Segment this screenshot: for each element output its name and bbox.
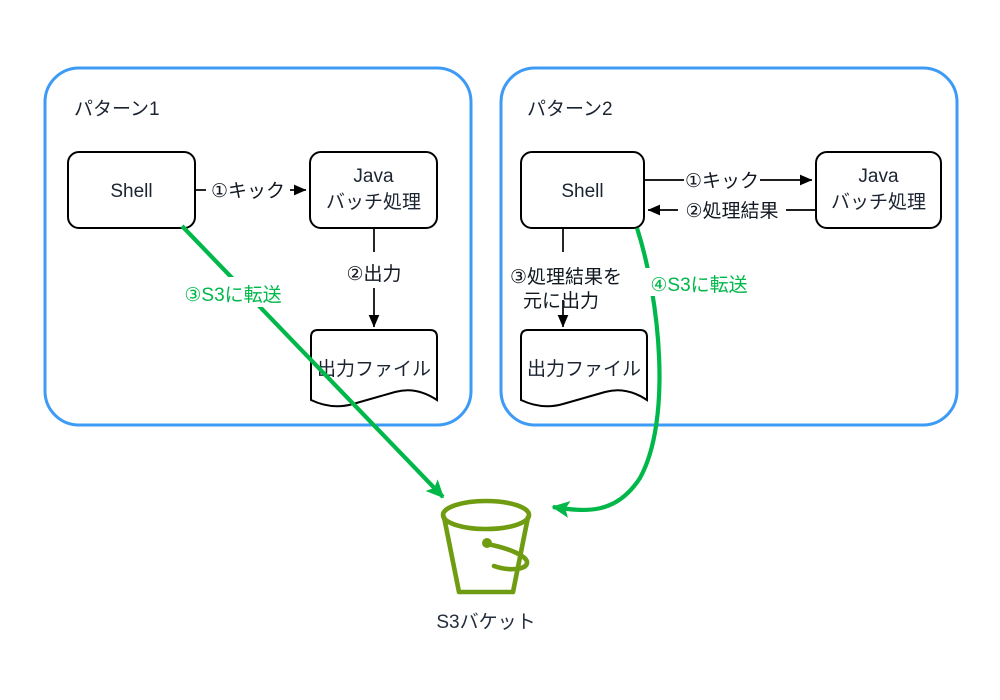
node-p1-shell[interactable]: Shell — [68, 152, 195, 228]
node-p1-file[interactable]: 出力ファイル — [311, 330, 437, 406]
edge-p2-kick: ①キック — [644, 170, 812, 192]
edge-p1-kick-label: ①キック — [211, 180, 285, 202]
node-p2-file-label: 出力ファイル — [527, 358, 641, 380]
node-p2-java-label-line1: Java — [858, 166, 899, 187]
s3-bucket-rim — [443, 501, 529, 529]
node-p2-java-box — [816, 152, 941, 228]
s3-bucket-handle-pivot — [482, 538, 492, 548]
edge-p2-s3-transfer-label: ④S3に転送 — [650, 274, 747, 296]
edge-p2-result-label: ②処理結果 — [685, 200, 778, 222]
diagram-canvas: パターン1 Shell Java バッチ処理 出力ファイル ①キック ②出力 — [0, 0, 1000, 700]
s3-bucket-caption: S3バケット — [436, 612, 535, 633]
node-p1-java-label-line2: バッチ処理 — [326, 191, 421, 213]
group-pattern1-title: パターン1 — [74, 98, 160, 120]
edge-p1-kick: ①キック — [195, 180, 306, 202]
edge-p1-output-label: ②出力 — [346, 263, 401, 285]
group-pattern2[interactable]: パターン2 Shell Java バッチ処理 出力ファイル ①キック ②処理結果 — [501, 68, 957, 425]
node-p2-file[interactable]: 出力ファイル — [521, 330, 647, 406]
node-p1-java-box — [310, 152, 437, 228]
edge-p1-s3-transfer-label: ③S3に転送 — [184, 284, 281, 306]
architecture-diagram: パターン1 Shell Java バッチ処理 出力ファイル ①キック ②出力 — [0, 0, 1000, 700]
node-p1-file-label: 出力ファイル — [317, 358, 431, 380]
edge-p2-result: ②処理結果 — [648, 200, 816, 222]
node-p1-java-label-line1: Java — [353, 166, 394, 187]
node-p1-java[interactable]: Java バッチ処理 — [310, 152, 437, 228]
node-p2-shell-label: Shell — [561, 181, 603, 202]
edge-p2-output: ③処理結果を 元に出力 — [510, 228, 622, 327]
node-p2-shell[interactable]: Shell — [521, 152, 644, 228]
edge-p1-output: ②出力 — [346, 228, 401, 327]
group-pattern1[interactable]: パターン1 Shell Java バッチ処理 出力ファイル ①キック ②出力 — [45, 68, 471, 425]
node-p2-java-label-line2: バッチ処理 — [831, 191, 926, 213]
node-p1-shell-label: Shell — [110, 181, 152, 202]
edge-p2-output-label-line1: ③処理結果を — [510, 266, 622, 288]
edge-p2-kick-label: ①キック — [685, 170, 759, 192]
group-pattern2-title: パターン2 — [527, 98, 613, 120]
node-p2-java[interactable]: Java バッチ処理 — [816, 152, 941, 228]
edge-p2-output-label-line2: 元に出力 — [523, 290, 599, 312]
s3-bucket-icon[interactable]: S3バケット — [436, 501, 535, 633]
